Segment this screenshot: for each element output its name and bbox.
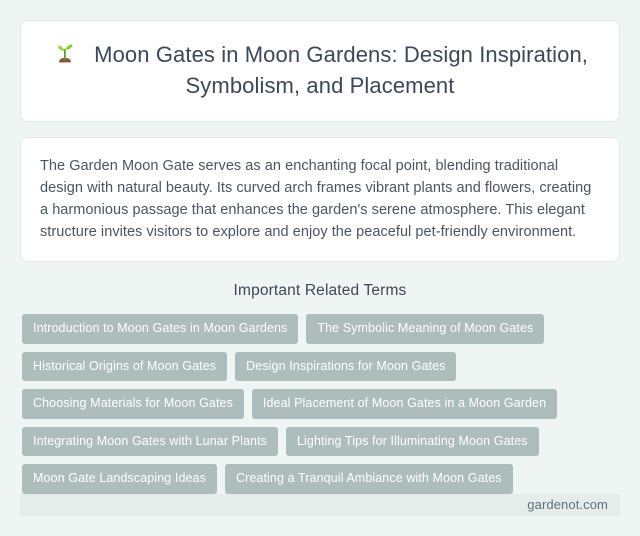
- related-terms-list: Introduction to Moon Gates in Moon Garde…: [20, 314, 620, 494]
- related-terms-heading: Important Related Terms: [20, 282, 620, 300]
- related-term-tag[interactable]: Choosing Materials for Moon Gates: [22, 389, 244, 419]
- related-term-tag[interactable]: Introduction to Moon Gates in Moon Garde…: [22, 314, 298, 344]
- related-term-tag[interactable]: Historical Origins of Moon Gates: [22, 352, 227, 382]
- page-title: Moon Gates in Moon Gardens: Design Inspi…: [94, 42, 588, 98]
- related-term-tag[interactable]: The Symbolic Meaning of Moon Gates: [306, 314, 544, 344]
- related-term-tag[interactable]: Ideal Placement of Moon Gates in a Moon …: [252, 389, 557, 419]
- page-title-row: Moon Gates in Moon Gardens: Design Inspi…: [51, 39, 589, 101]
- footer-bar: gardenot.com: [20, 494, 620, 517]
- description-card: The Garden Moon Gate serves as an enchan…: [20, 137, 620, 262]
- page-root: Moon Gates in Moon Gardens: Design Inspi…: [0, 0, 640, 536]
- seedling-icon: [52, 40, 78, 66]
- title-card: Moon Gates in Moon Gardens: Design Inspi…: [20, 20, 620, 122]
- description-text: The Garden Moon Gate serves as an enchan…: [40, 155, 600, 243]
- related-term-tag[interactable]: Integrating Moon Gates with Lunar Plants: [22, 427, 278, 457]
- footer-site-name: gardenot.com: [527, 497, 608, 512]
- related-term-tag[interactable]: Design Inspirations for Moon Gates: [235, 352, 456, 382]
- related-term-tag[interactable]: Creating a Tranquil Ambiance with Moon G…: [225, 464, 513, 494]
- related-term-tag[interactable]: Lighting Tips for Illuminating Moon Gate…: [286, 427, 539, 457]
- related-term-tag[interactable]: Moon Gate Landscaping Ideas: [22, 464, 217, 494]
